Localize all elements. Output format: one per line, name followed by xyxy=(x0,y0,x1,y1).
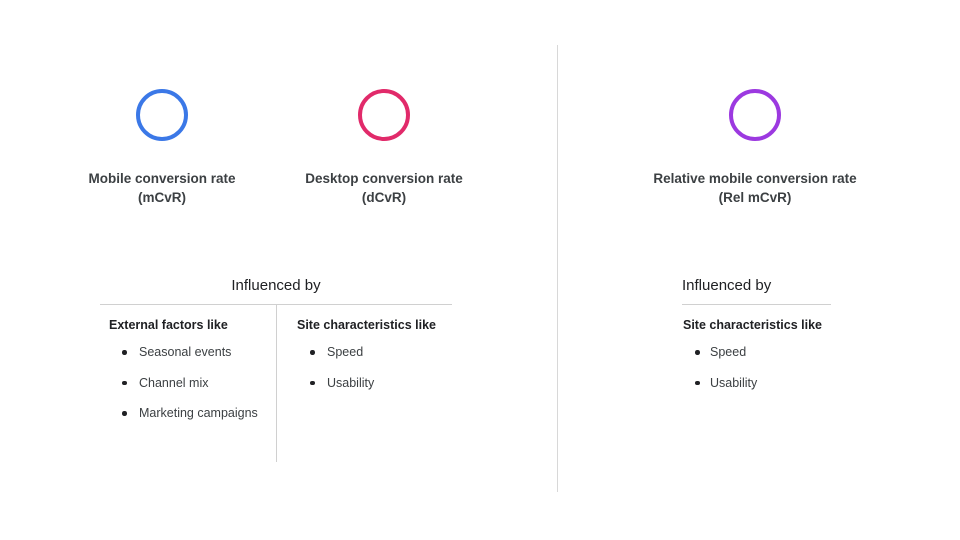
bullet-icon xyxy=(310,350,315,355)
metric-label: Desktop conversion rate (dCvR) xyxy=(284,169,484,207)
influence-column-site-characteristics: Site characteristics like Speed Usabilit… xyxy=(682,305,831,405)
influence-list: Speed Usability xyxy=(297,344,452,391)
bullet-icon xyxy=(122,381,127,386)
influence-columns: Site characteristics like Speed Usabilit… xyxy=(682,305,831,405)
circle-outline-icon xyxy=(729,89,781,141)
metric-card-mobile-conversion-rate: Mobile conversion rate (mCvR) xyxy=(62,89,262,207)
list-item-label: Speed xyxy=(710,345,746,359)
metric-label: Mobile conversion rate (mCvR) xyxy=(62,169,262,207)
influence-columns: External factors like Seasonal events Ch… xyxy=(100,305,452,462)
list-item-label: Marketing campaigns xyxy=(139,406,258,420)
list-item-label: Usability xyxy=(710,376,757,390)
list-item: Marketing campaigns xyxy=(109,405,259,422)
influence-column-external-factors: External factors like Seasonal events Ch… xyxy=(100,305,276,462)
list-item: Channel mix xyxy=(109,375,259,392)
influence-column-site-characteristics: Site characteristics like Speed Usabilit… xyxy=(276,305,452,462)
influence-list: Speed Usability xyxy=(683,344,831,391)
bullet-icon xyxy=(122,350,127,355)
circle-outline-icon xyxy=(136,89,188,141)
metric-card-relative-mobile-conversion-rate: Relative mobile conversion rate (Rel mCv… xyxy=(630,89,880,207)
list-item: Speed xyxy=(683,344,830,361)
influenced-by-block-left: Influenced by External factors like Seas… xyxy=(100,276,452,462)
list-item-label: Channel mix xyxy=(139,376,208,390)
influence-column-heading: Site characteristics like xyxy=(297,305,452,334)
list-item-label: Usability xyxy=(327,376,374,390)
influence-column-heading: Site characteristics like xyxy=(683,305,831,334)
influenced-by-block-right: Influenced by Site characteristics like … xyxy=(682,276,831,405)
influence-list: Seasonal events Channel mix Marketing ca… xyxy=(109,344,276,422)
influenced-by-title: Influenced by xyxy=(682,276,831,304)
bullet-icon xyxy=(122,411,127,416)
panel-divider xyxy=(557,45,558,492)
list-item-label: Speed xyxy=(327,345,363,359)
bullet-icon xyxy=(695,350,700,355)
influenced-by-title: Influenced by xyxy=(100,276,452,304)
list-item: Usability xyxy=(297,375,447,392)
bullet-icon xyxy=(695,381,700,386)
metric-label: Relative mobile conversion rate (Rel mCv… xyxy=(630,169,880,207)
bullet-icon xyxy=(310,381,315,386)
influence-column-heading: External factors like xyxy=(109,305,276,334)
list-item: Usability xyxy=(683,375,830,392)
circle-outline-icon xyxy=(358,89,410,141)
list-item: Speed xyxy=(297,344,447,361)
list-item-label: Seasonal events xyxy=(139,345,231,359)
list-item: Seasonal events xyxy=(109,344,259,361)
metric-card-desktop-conversion-rate: Desktop conversion rate (dCvR) xyxy=(284,89,484,207)
diagram-canvas: Mobile conversion rate (mCvR) Desktop co… xyxy=(0,0,960,540)
